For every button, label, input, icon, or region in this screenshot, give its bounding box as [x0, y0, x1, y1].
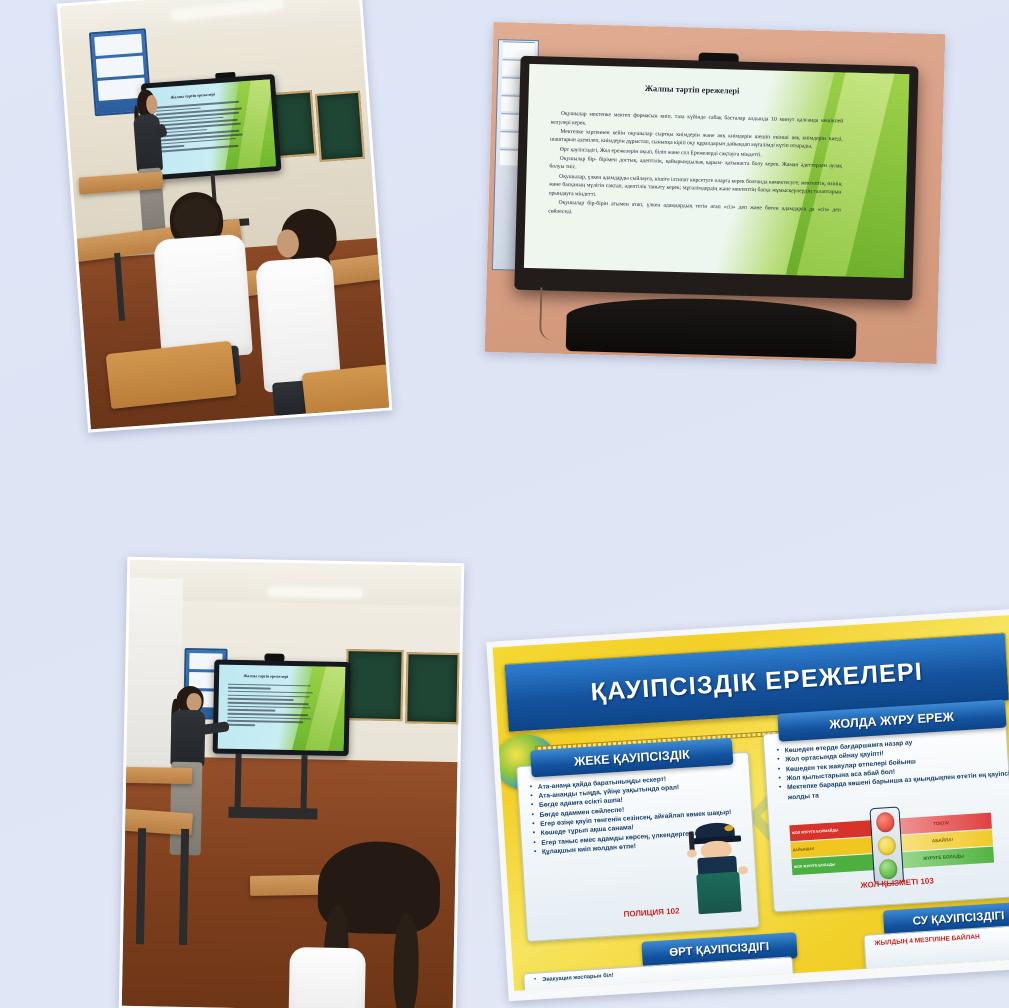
photo-classroom-front: Жалпы тәртіп ережелері — [57, 0, 393, 433]
slide-text-lines — [227, 683, 315, 742]
display-stand-pole — [235, 754, 241, 812]
blackboard-right — [315, 91, 365, 162]
interactive-display: Жалпы тәртіп ережелері — [213, 660, 350, 756]
police-officer-icon — [685, 821, 753, 914]
slide-title: Жалпы тәртіп ережелері — [559, 81, 825, 98]
heading-text: СУ ҚАУІПСІЗДІГІ — [912, 910, 1004, 928]
blackboard-right — [405, 652, 459, 724]
photo-safety-poster: ZhUKR ҚАУІПСІЗДІК ЕРЕЖЕЛЕРІ ЖЕКЕ ҚАУІПСІ… — [486, 609, 1009, 1002]
blackboard-left — [346, 649, 404, 721]
display-screen: Жалпы тәртіп ережелері — [218, 665, 345, 751]
power-cable — [539, 287, 572, 341]
heading-text: ӨРТ ҚАУІПСІЗДІГІ — [669, 940, 770, 958]
photo-board-closeup: Жалпы тәртіп ережелері Оқушылар мектепке… — [485, 22, 946, 364]
display-screen-large: Жалпы тәртіп ережелері Оқушылар мектепке… — [524, 64, 909, 278]
photo-collage: Жалпы тәртіп ережелері — [0, 0, 1009, 1008]
pupil-foreground — [307, 840, 461, 1008]
slide-body: Оқушылар мектепке мектеп формасын киіп, … — [548, 109, 843, 224]
classroom-scene-front: Жалпы тәртіп ережелері — [60, 0, 389, 429]
display-stand-pole-2 — [301, 755, 307, 813]
poster-header-text: ҚАУІПСІЗДІК ЕРЕЖЕЛЕРІ — [590, 658, 924, 708]
slide-title-mini: Жалпы тәртіп ережелері — [219, 672, 312, 679]
display-stand-base — [228, 807, 318, 819]
interactive-display-large: Жалпы тәртіп ережелері Оқушылар мектепке… — [514, 56, 918, 301]
photo-classroom-side: Жалпы тәртіп ережелері — [119, 557, 465, 1008]
heading-text: ЖОЛДА ЖҮРУ ЕРЕЖ — [829, 710, 954, 732]
desk-back-left — [122, 767, 193, 785]
safety-poster: ZhUKR ҚАУІПСІЗДІК ЕРЕЖЕЛЕРІ ЖЕКЕ ҚАУІПСІ… — [493, 615, 1009, 991]
classroom-scene-side: Жалпы тәртіп ережелері — [122, 560, 462, 1008]
heading-text: ЖЕКЕ ҚАУІПСІЗДІК — [574, 747, 690, 768]
traffic-light-icon — [869, 806, 904, 885]
